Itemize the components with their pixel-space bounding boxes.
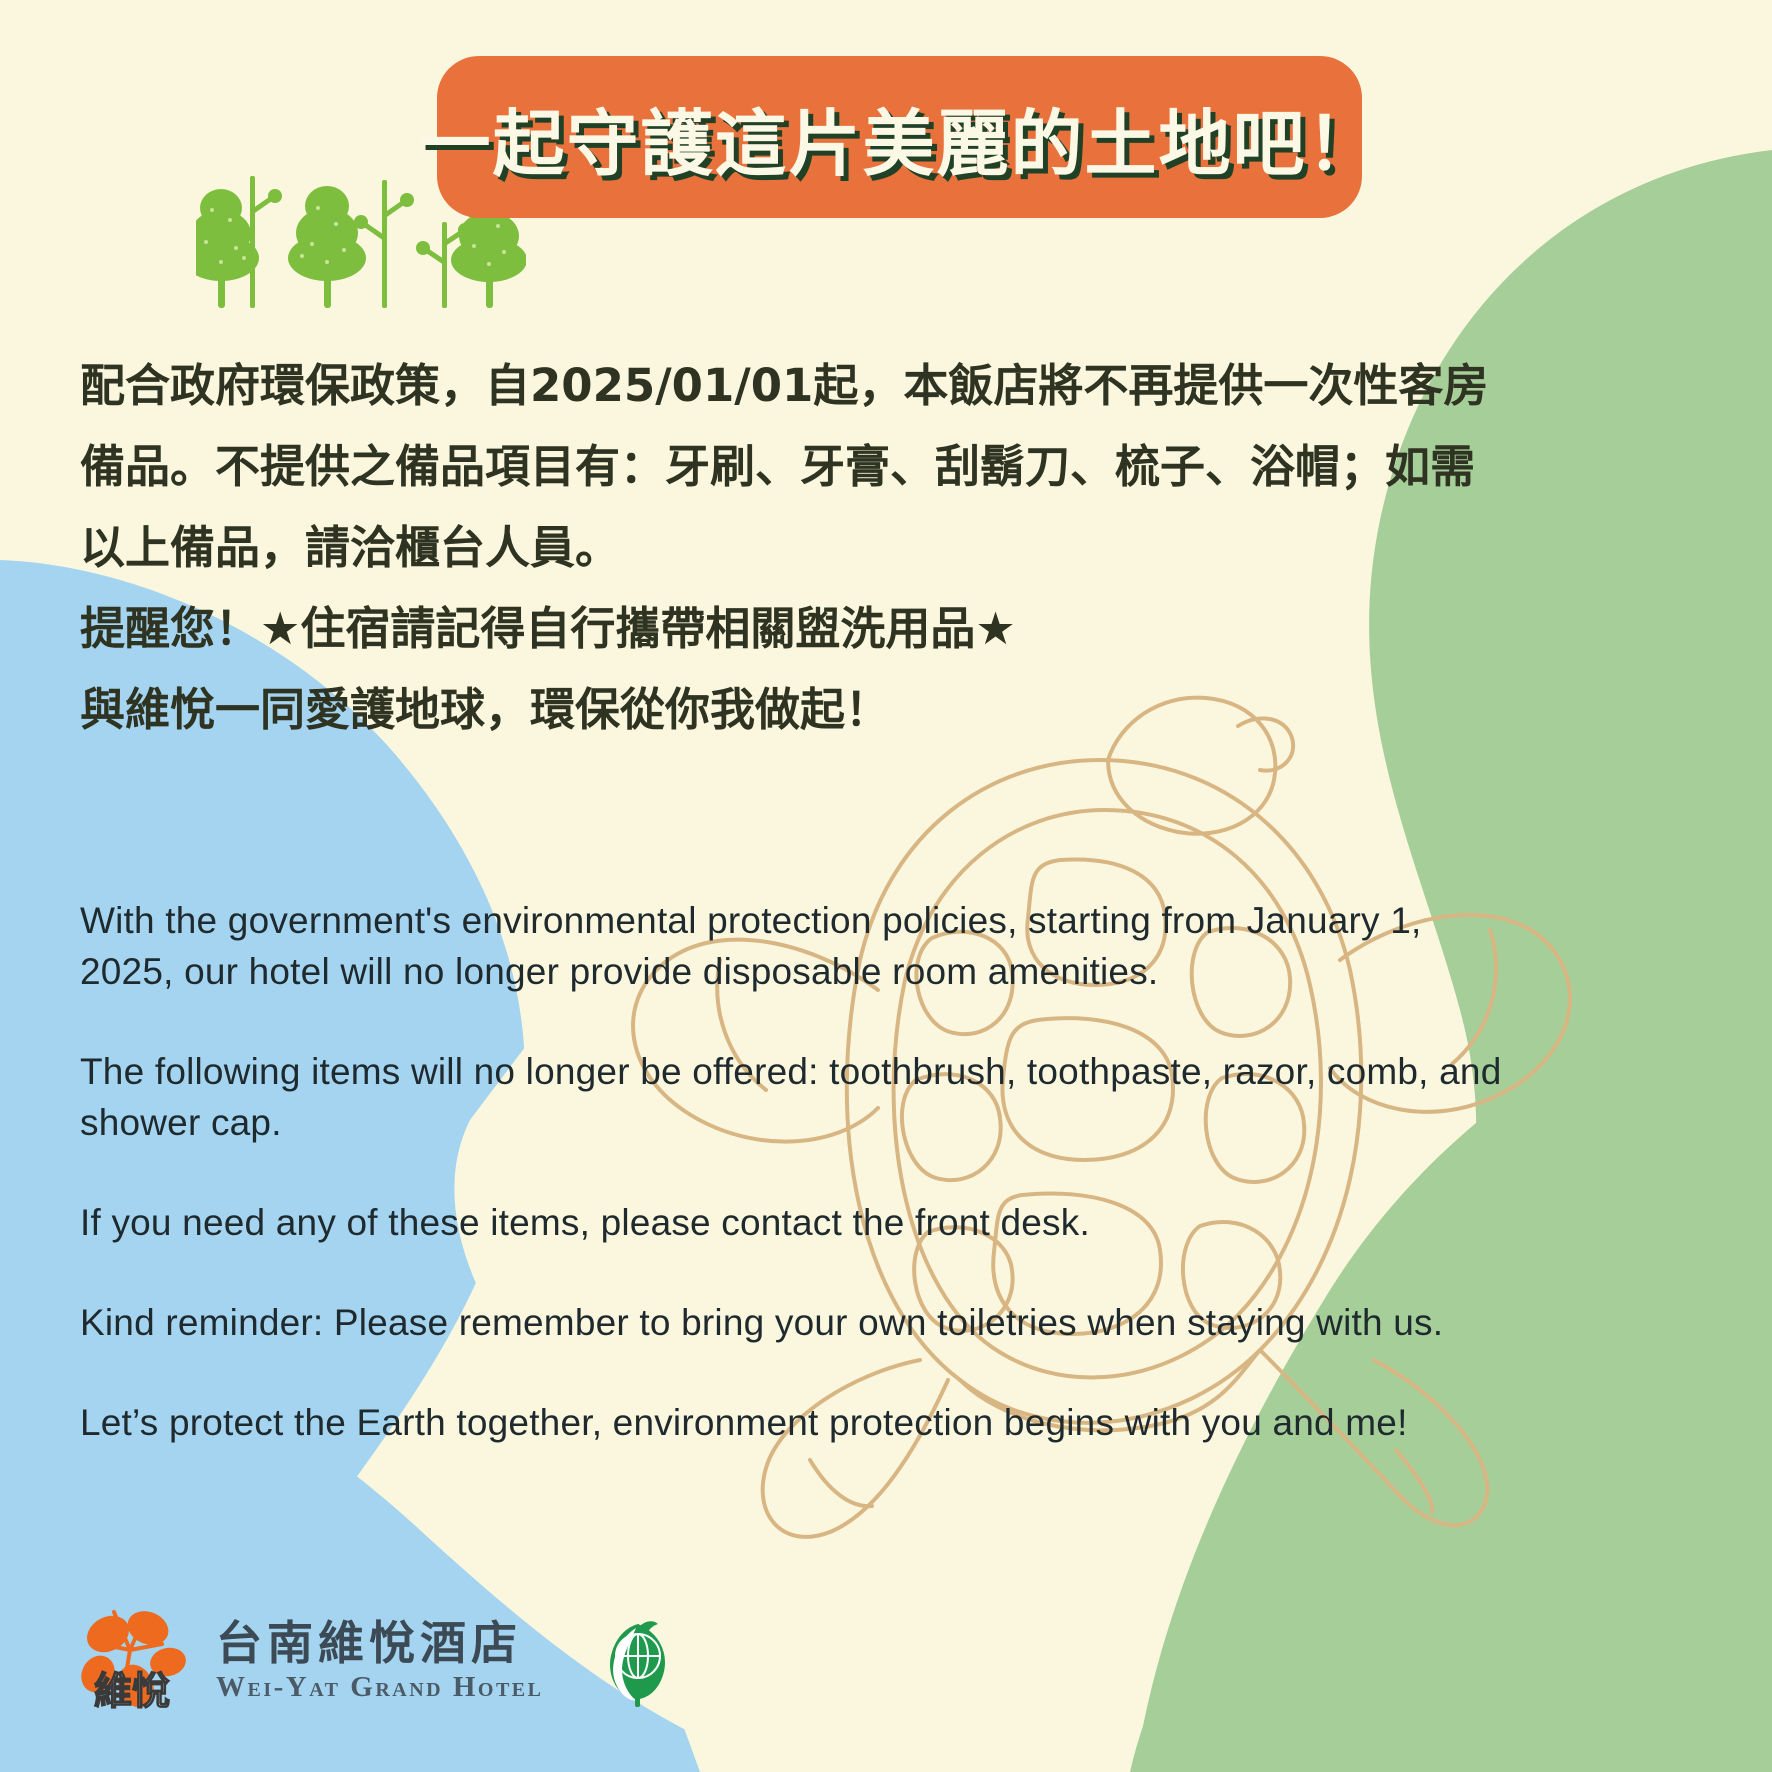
poster-canvas: 一起守護這片美麗的土地吧！ 配合政府環保政策，自2025/01/01起，本飯店將… (0, 0, 1772, 1772)
english-paragraph-3: If you need any of these items, please c… (80, 1197, 1510, 1248)
hotel-name-english: Wei-Yat Grand Hotel (216, 1670, 544, 1704)
header-banner: 一起守護這片美麗的土地吧！ (437, 56, 1362, 218)
chinese-line-5: 與維悅一同愛護地球，環保從你我做起！ (80, 669, 1500, 750)
logo-calligraphy-text: 維悅 (94, 1668, 170, 1713)
chinese-line-1: 配合政府環保政策，自2025/01/01起，本飯店將不再提供一次性客房 (80, 345, 1500, 426)
footer-logo-row: 維悅 台南維悅酒店 Wei-Yat Grand Hotel (78, 1600, 676, 1720)
english-notice-block: With the government's environmental prot… (80, 895, 1510, 1497)
english-paragraph-4: Kind reminder: Please remember to bring … (80, 1297, 1510, 1348)
header-banner-title: 一起守護這片美麗的土地吧！ (419, 85, 1381, 190)
chinese-notice-block: 配合政府環保政策，自2025/01/01起，本飯店將不再提供一次性客房 備品。不… (80, 345, 1500, 750)
english-paragraph-2: The following items will no longer be of… (80, 1046, 1510, 1148)
english-paragraph-1: With the government's environmental prot… (80, 895, 1510, 997)
wei-yat-flower-logo-icon: 維悅 (78, 1600, 190, 1720)
english-paragraph-5: Let’s protect the Earth together, enviro… (80, 1397, 1510, 1448)
chinese-line-4: 提醒您！★住宿請記得自行攜帶相關盥洗用品★ (80, 588, 1500, 669)
hotel-name-group: 台南維悅酒店 Wei-Yat Grand Hotel (216, 1616, 544, 1704)
hotel-name-chinese: 台南維悅酒店 (216, 1616, 544, 1670)
chinese-line-2: 備品。不提供之備品項目有：牙刷、牙膏、刮鬍刀、梳子、浴帽；如需 (80, 426, 1500, 507)
chinese-line-3: 以上備品，請洽櫃台人員。 (80, 507, 1500, 588)
environmental-protection-leaf-icon (600, 1612, 676, 1708)
